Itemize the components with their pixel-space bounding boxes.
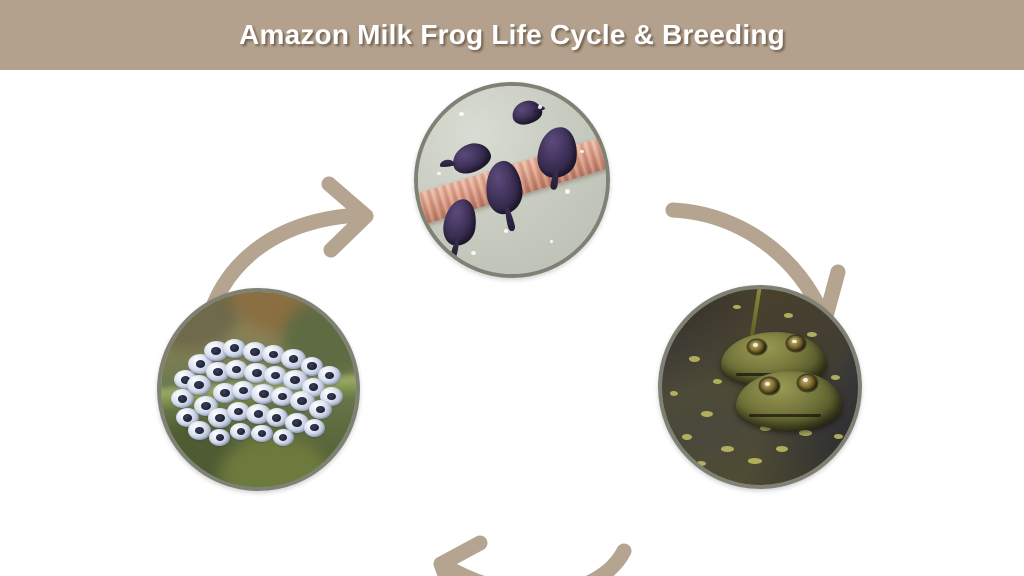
tadpoles-illustration: [418, 86, 606, 274]
cycle-node-egg-mass[interactable]: [157, 288, 360, 491]
cycle-node-tadpoles[interactable]: [414, 82, 610, 278]
infographic-page: Amazon Milk Frog Life Cycle & Breeding: [0, 0, 1024, 576]
tadpole-shape: [483, 159, 524, 215]
header-bar: Amazon Milk Frog Life Cycle & Breeding: [0, 0, 1024, 70]
tadpole-shape: [536, 125, 581, 180]
egg-mass-illustration: [161, 292, 356, 487]
page-title: Amazon Milk Frog Life Cycle & Breeding: [239, 19, 785, 51]
life-cycle-diagram: [0, 70, 1024, 576]
frogs-amplexus-illustration: [662, 289, 858, 485]
frog-lower-shape: [736, 371, 842, 430]
tadpole-shape: [510, 98, 544, 126]
arrow-frogs-to-eggs: [408, 525, 643, 576]
egg-cluster: [171, 339, 347, 444]
tadpole-shape: [441, 197, 479, 248]
cycle-node-frogs-amplexus[interactable]: [658, 285, 862, 489]
